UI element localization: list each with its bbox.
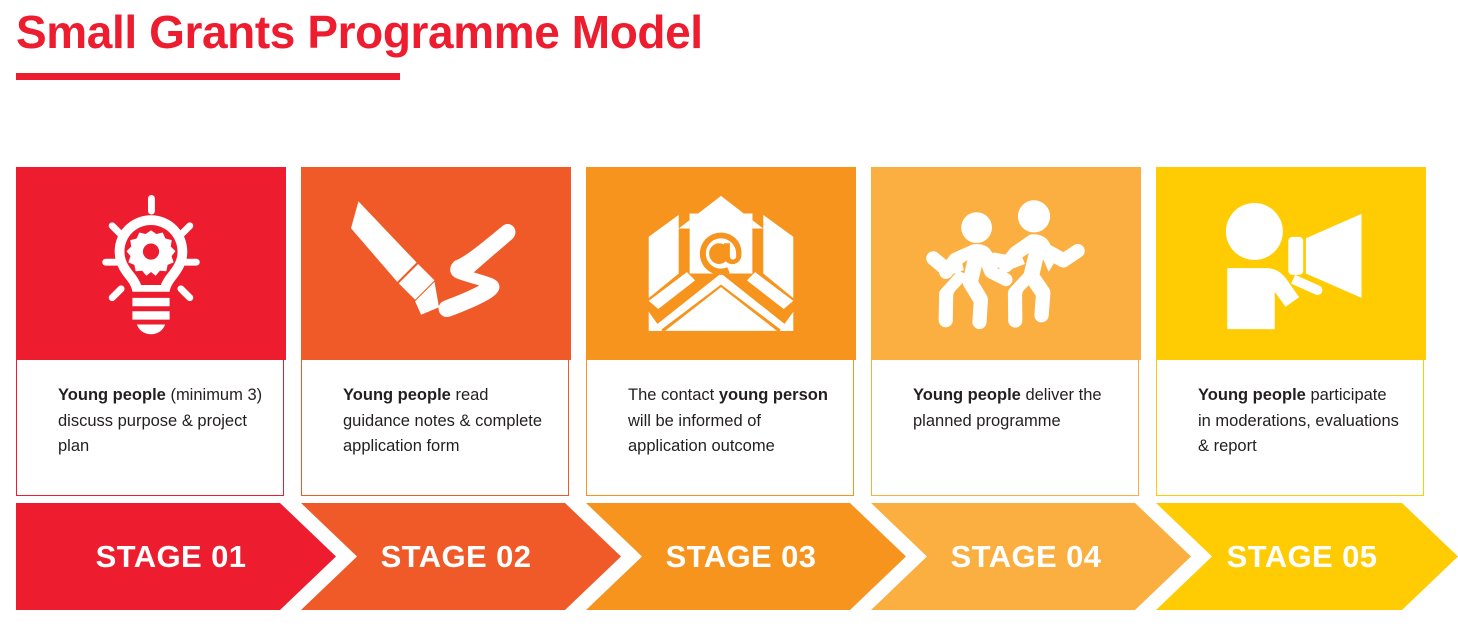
stage-icon-panel-1 [16,167,286,360]
stage-banner-1[interactable]: STAGE 01 [16,503,336,610]
stage-icon-panel-5 [1156,167,1426,360]
stage-icon-panel-3 [586,167,856,360]
stage-banner-label-1: STAGE 01 [96,539,257,575]
stage-description-box-5: Young people participate in moderations,… [1156,360,1424,496]
stage-banner-5[interactable]: STAGE 05 [1156,503,1458,610]
stage-description-box-4: Young people deliver the planned program… [871,360,1139,496]
stage-description-box-2: Young people read guidance notes & compl… [301,360,569,496]
stage-banner-label-2: STAGE 02 [381,539,542,575]
envelope-at-icon [646,194,796,334]
stage-description-text-2: Young people read guidance notes & compl… [343,383,548,460]
stage-column-5[interactable]: Young people participate in moderations,… [1156,167,1426,496]
stage-banner-label-4: STAGE 04 [951,539,1112,575]
stage-column-3[interactable]: The contact young person will be informe… [586,167,856,496]
stage-banner-label-5: STAGE 05 [1227,539,1388,575]
page-title: Small Grants Programme Model [16,4,1416,60]
stage-banner-row: STAGE 01 STAGE 02 STAGE 03 STAGE 04 STAG… [0,503,1458,610]
stage-description-text-4: Young people deliver the planned program… [913,383,1118,434]
dancing-people-icon [922,194,1090,334]
stage-banner-label-3: STAGE 03 [666,539,827,575]
stage-description-text-3: The contact young person will be informe… [628,383,833,460]
stage-banner-4[interactable]: STAGE 04 [871,503,1191,610]
stage-banner-2[interactable]: STAGE 02 [301,503,621,610]
stage-column-4[interactable]: Young people deliver the planned program… [871,167,1141,496]
stage-description-box-1: Young people (minimum 3) discuss purpose… [16,360,284,496]
stage-banner-3[interactable]: STAGE 03 [586,503,906,610]
stage-description-text-1: Young people (minimum 3) discuss purpose… [58,383,263,460]
person-megaphone-icon [1211,194,1371,334]
stage-column-1[interactable]: Young people (minimum 3) discuss purpose… [16,167,286,496]
title-underline-rule [16,73,400,80]
pen-signature-icon [348,189,524,339]
stage-icon-panel-4 [871,167,1141,360]
stage-icon-panel-2 [301,167,571,360]
title-block: Small Grants Programme Model [16,4,1416,80]
stage-description-box-3: The contact young person will be informe… [586,360,854,496]
stage-column-2[interactable]: Young people read guidance notes & compl… [301,167,571,496]
stage-description-text-5: Young people participate in moderations,… [1198,383,1403,460]
lightbulb-gear-icon [76,189,226,339]
